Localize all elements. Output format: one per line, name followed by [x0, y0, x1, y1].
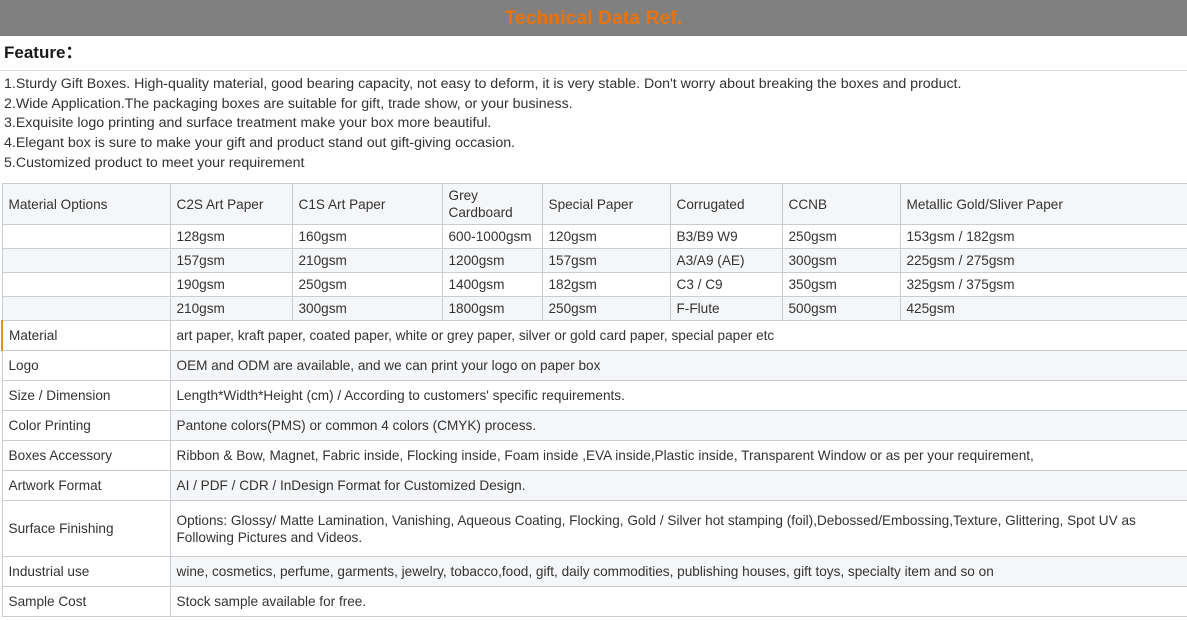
- spec-value: Stock sample available for free.: [170, 587, 1187, 617]
- spec-row-industrial-use: Industrial use wine, cosmetics, perfume,…: [2, 557, 1187, 587]
- column-header-c1s-art-paper: C1S Art Paper: [292, 184, 442, 225]
- spec-row-sample-cost: Sample Cost Stock sample available for f…: [2, 587, 1187, 617]
- spec-label: Surface Finishing: [2, 501, 170, 557]
- spec-value: wine, cosmetics, perfume, garments, jewe…: [170, 557, 1187, 587]
- feature-line: 5.Customized product to meet your requir…: [4, 154, 1183, 174]
- cell-ccnb: 350gsm: [782, 273, 900, 297]
- page-title: Technical Data Ref.: [505, 9, 683, 28]
- spec-label: Logo: [2, 351, 170, 381]
- spec-value: Pantone colors(PMS) or common 4 colors (…: [170, 411, 1187, 441]
- cell-metallic: 153gsm / 182gsm: [900, 225, 1187, 249]
- spec-label: Size / Dimension: [2, 381, 170, 411]
- cell-c1s: 300gsm: [292, 297, 442, 321]
- spec-row-size-dimension: Size / Dimension Length*Width*Height (cm…: [2, 381, 1187, 411]
- cell-grey: 1400gsm: [442, 273, 542, 297]
- feature-list: 1.Sturdy Gift Boxes. High-quality materi…: [0, 71, 1187, 179]
- cell-c2s: 157gsm: [170, 249, 292, 273]
- cell-material-options: [2, 249, 170, 273]
- table-row: 128gsm 160gsm 600-1000gsm 120gsm B3/B9 W…: [2, 225, 1187, 249]
- spec-value: art paper, kraft paper, coated paper, wh…: [170, 321, 1187, 351]
- column-header-corrugated: Corrugated: [670, 184, 782, 225]
- cell-c1s: 160gsm: [292, 225, 442, 249]
- cell-metallic: 425gsm: [900, 297, 1187, 321]
- cell-special: 157gsm: [542, 249, 670, 273]
- spec-row-color-printing: Color Printing Pantone colors(PMS) or co…: [2, 411, 1187, 441]
- cell-ccnb: 500gsm: [782, 297, 900, 321]
- column-header-special-paper: Special Paper: [542, 184, 670, 225]
- column-header-metallic-paper: Metallic Gold/Sliver Paper: [900, 184, 1187, 225]
- cell-ccnb: 250gsm: [782, 225, 900, 249]
- table-row: 210gsm 300gsm 1800gsm 250gsm F-Flute 500…: [2, 297, 1187, 321]
- cell-corrugated: F-Flute: [670, 297, 782, 321]
- table-header-row: Material Options C2S Art Paper C1S Art P…: [2, 184, 1187, 225]
- cell-corrugated: B3/B9 W9: [670, 225, 782, 249]
- spec-label: Artwork Format: [2, 471, 170, 501]
- column-header-ccnb: CCNB: [782, 184, 900, 225]
- spec-value: AI / PDF / CDR / InDesign Format for Cus…: [170, 471, 1187, 501]
- cell-c1s: 250gsm: [292, 273, 442, 297]
- cell-special: 250gsm: [542, 297, 670, 321]
- cell-material-options: [2, 273, 170, 297]
- spec-label: Industrial use: [2, 557, 170, 587]
- spec-value: Ribbon & Bow, Magnet, Fabric inside, Flo…: [170, 441, 1187, 471]
- column-header-grey-cardboard: Grey Cardboard: [442, 184, 542, 225]
- title-bar: Technical Data Ref.: [0, 0, 1187, 36]
- cell-c2s: 210gsm: [170, 297, 292, 321]
- spec-label: Boxes Accessory: [2, 441, 170, 471]
- spec-row-artwork-format: Artwork Format AI / PDF / CDR / InDesign…: [2, 471, 1187, 501]
- cell-ccnb: 300gsm: [782, 249, 900, 273]
- spec-label: Material: [2, 321, 170, 351]
- spec-row-boxes-accessory: Boxes Accessory Ribbon & Bow, Magnet, Fa…: [2, 441, 1187, 471]
- technical-data-sheet: Technical Data Ref. Feature： 1.Sturdy Gi…: [0, 0, 1187, 620]
- spec-row-logo: Logo OEM and ODM are available, and we c…: [2, 351, 1187, 381]
- spec-label: Color Printing: [2, 411, 170, 441]
- spec-value: OEM and ODM are available, and we can pr…: [170, 351, 1187, 381]
- feature-line: 4.Elegant box is sure to make your gift …: [4, 134, 1183, 154]
- feature-line: 2.Wide Application.The packaging boxes a…: [4, 95, 1183, 115]
- cell-grey: 1200gsm: [442, 249, 542, 273]
- feature-heading-block: Feature：: [0, 36, 1187, 71]
- cell-metallic: 325gsm / 375gsm: [900, 273, 1187, 297]
- spec-value: Options: Glossy/ Matte Lamination, Vanis…: [170, 501, 1187, 557]
- cell-special: 182gsm: [542, 273, 670, 297]
- table-row: 157gsm 210gsm 1200gsm 157gsm A3/A9 (AE) …: [2, 249, 1187, 273]
- cell-grey: 600-1000gsm: [442, 225, 542, 249]
- cell-corrugated: A3/A9 (AE): [670, 249, 782, 273]
- cell-corrugated: C3 / C9: [670, 273, 782, 297]
- spec-row-material: Material art paper, kraft paper, coated …: [2, 321, 1187, 351]
- cell-special: 120gsm: [542, 225, 670, 249]
- spec-label: Sample Cost: [2, 587, 170, 617]
- feature-heading: Feature：: [4, 42, 1183, 63]
- cell-c2s: 190gsm: [170, 273, 292, 297]
- column-header-c2s-art-paper: C2S Art Paper: [170, 184, 292, 225]
- cell-material-options: [2, 225, 170, 249]
- feature-line: 1.Sturdy Gift Boxes. High-quality materi…: [4, 75, 1183, 95]
- spec-row-surface-finishing: Surface Finishing Options: Glossy/ Matte…: [2, 501, 1187, 557]
- spec-value: Length*Width*Height (cm) / According to …: [170, 381, 1187, 411]
- cell-c1s: 210gsm: [292, 249, 442, 273]
- table-row: 190gsm 250gsm 1400gsm 182gsm C3 / C9 350…: [2, 273, 1187, 297]
- feature-line: 3.Exquisite logo printing and surface tr…: [4, 114, 1183, 134]
- cell-grey: 1800gsm: [442, 297, 542, 321]
- technical-spec-table: Material Options C2S Art Paper C1S Art P…: [1, 183, 1187, 617]
- cell-c2s: 128gsm: [170, 225, 292, 249]
- cell-metallic: 225gsm / 275gsm: [900, 249, 1187, 273]
- cell-material-options: [2, 297, 170, 321]
- column-header-material-options: Material Options: [2, 184, 170, 225]
